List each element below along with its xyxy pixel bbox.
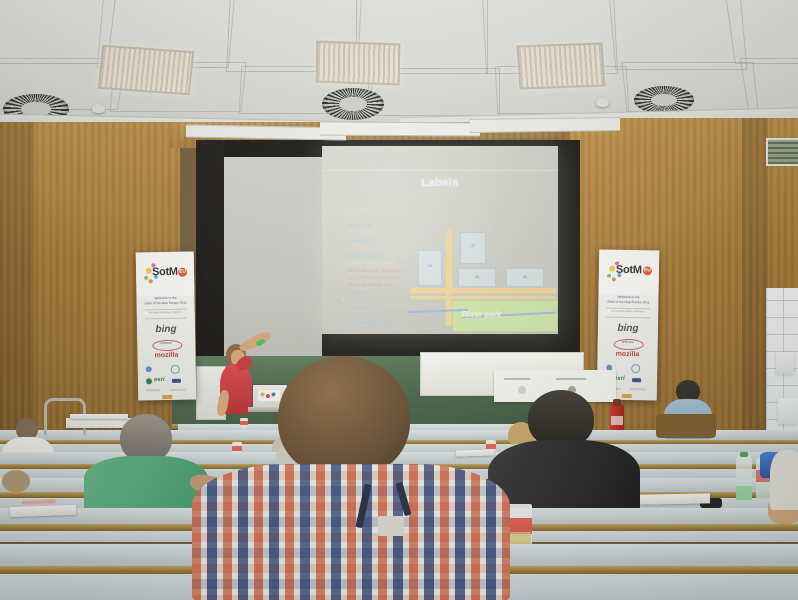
bottle-cap — [740, 452, 748, 457]
wall-panel-left-edge — [0, 122, 34, 452]
code-selector-2: area[addr:housenumber] { — [342, 260, 398, 265]
map-building: 12 — [418, 250, 442, 286]
code-line: text-position: center; — [348, 320, 392, 325]
map-building-number: 31 — [507, 275, 543, 279]
code-selector-1: node[name] { — [342, 208, 370, 213]
lecture-hall-photo: Labels node[name] { text: name; font-siz… — [0, 0, 798, 600]
ceiling-light-panel — [516, 42, 605, 89]
banner-logo-text: SotM — [152, 266, 178, 278]
chair-back — [656, 414, 716, 438]
code-line: text: addr:housenumber; — [348, 275, 400, 280]
screen-valance — [470, 117, 620, 133]
banner-logo-text: SotM — [616, 264, 642, 276]
map-building: 31 — [506, 268, 544, 287]
person-head — [120, 414, 172, 462]
banner-tagline-2: State of the Map Europe 2011 — [137, 300, 195, 305]
map-road-horizontal-lower — [410, 296, 556, 299]
banner-tagline-2: State of the Map Europe 2011 — [598, 299, 658, 304]
banner-tagline-3: the OpenStreetMap conference — [598, 309, 658, 313]
code-line: font-size: 7; — [348, 290, 373, 295]
person-head — [2, 470, 30, 492]
slide-map-illustration: 12 17 24 31 River park — [410, 230, 556, 330]
code-line: text: name; — [348, 223, 372, 228]
name-badge — [378, 516, 404, 536]
map-building-number: 12 — [419, 264, 441, 268]
banner-sponsor-bing: bing — [598, 322, 658, 334]
person-head — [278, 356, 410, 478]
map-building: 24 — [458, 268, 496, 287]
ceiling-light-panel — [98, 45, 195, 95]
paper-sheet — [640, 493, 710, 504]
slide-code-block-2: area[addr:housenumber] { text: addr:hous… — [334, 252, 400, 334]
banner-sponsor-telenav: telenav — [137, 340, 195, 345]
audience-person-edge-left — [0, 470, 34, 516]
map-park-label: River park — [462, 310, 501, 319]
audience-person-man-plaid-shirt — [192, 356, 510, 600]
smoke-detector — [92, 104, 105, 113]
banner-sponsor-mozilla: mozilla — [137, 351, 195, 359]
code-line: font-size: 10; — [348, 238, 376, 243]
ceiling-light-panel — [316, 41, 401, 86]
map-building-number: 24 — [459, 275, 495, 279]
transom-window — [766, 138, 798, 166]
sotm-banner-left: SotM EU Welcome to the State of the Map … — [136, 252, 197, 401]
person-torso — [770, 450, 798, 510]
screen-valance — [320, 121, 480, 136]
slide-title: Labels — [322, 177, 558, 189]
wall-panel-right-far — [742, 118, 768, 468]
wall-dispenser — [776, 352, 794, 374]
banner-sponsor-esri: esri — [154, 377, 165, 383]
map-road-horizontal — [410, 288, 556, 293]
ceiling — [0, 0, 798, 128]
wall-fixture — [778, 398, 798, 424]
banner-sponsor-bing: bing — [137, 323, 195, 335]
smoke-detector — [596, 98, 609, 107]
map-building-number: 17 — [461, 244, 485, 248]
code-line: text-color: black; — [348, 305, 383, 310]
water-bottle-green — [736, 456, 752, 504]
banner-tagline-3: the OpenStreetMap conference — [137, 310, 195, 314]
banner-logo-badge: EU — [643, 266, 652, 275]
projected-slide: Labels node[name] { text: name; font-siz… — [322, 146, 558, 334]
person-torso — [192, 464, 510, 600]
map-building: 17 — [460, 232, 486, 264]
audience-person-man-black-jacket — [488, 390, 640, 516]
audience-person-edge-right — [770, 440, 798, 510]
bottle-label — [736, 486, 752, 500]
air-vent — [322, 88, 384, 120]
banner-sponsor-telenav: telenav — [598, 339, 658, 344]
banner-sponsor-mozilla: mozilla — [597, 350, 657, 358]
